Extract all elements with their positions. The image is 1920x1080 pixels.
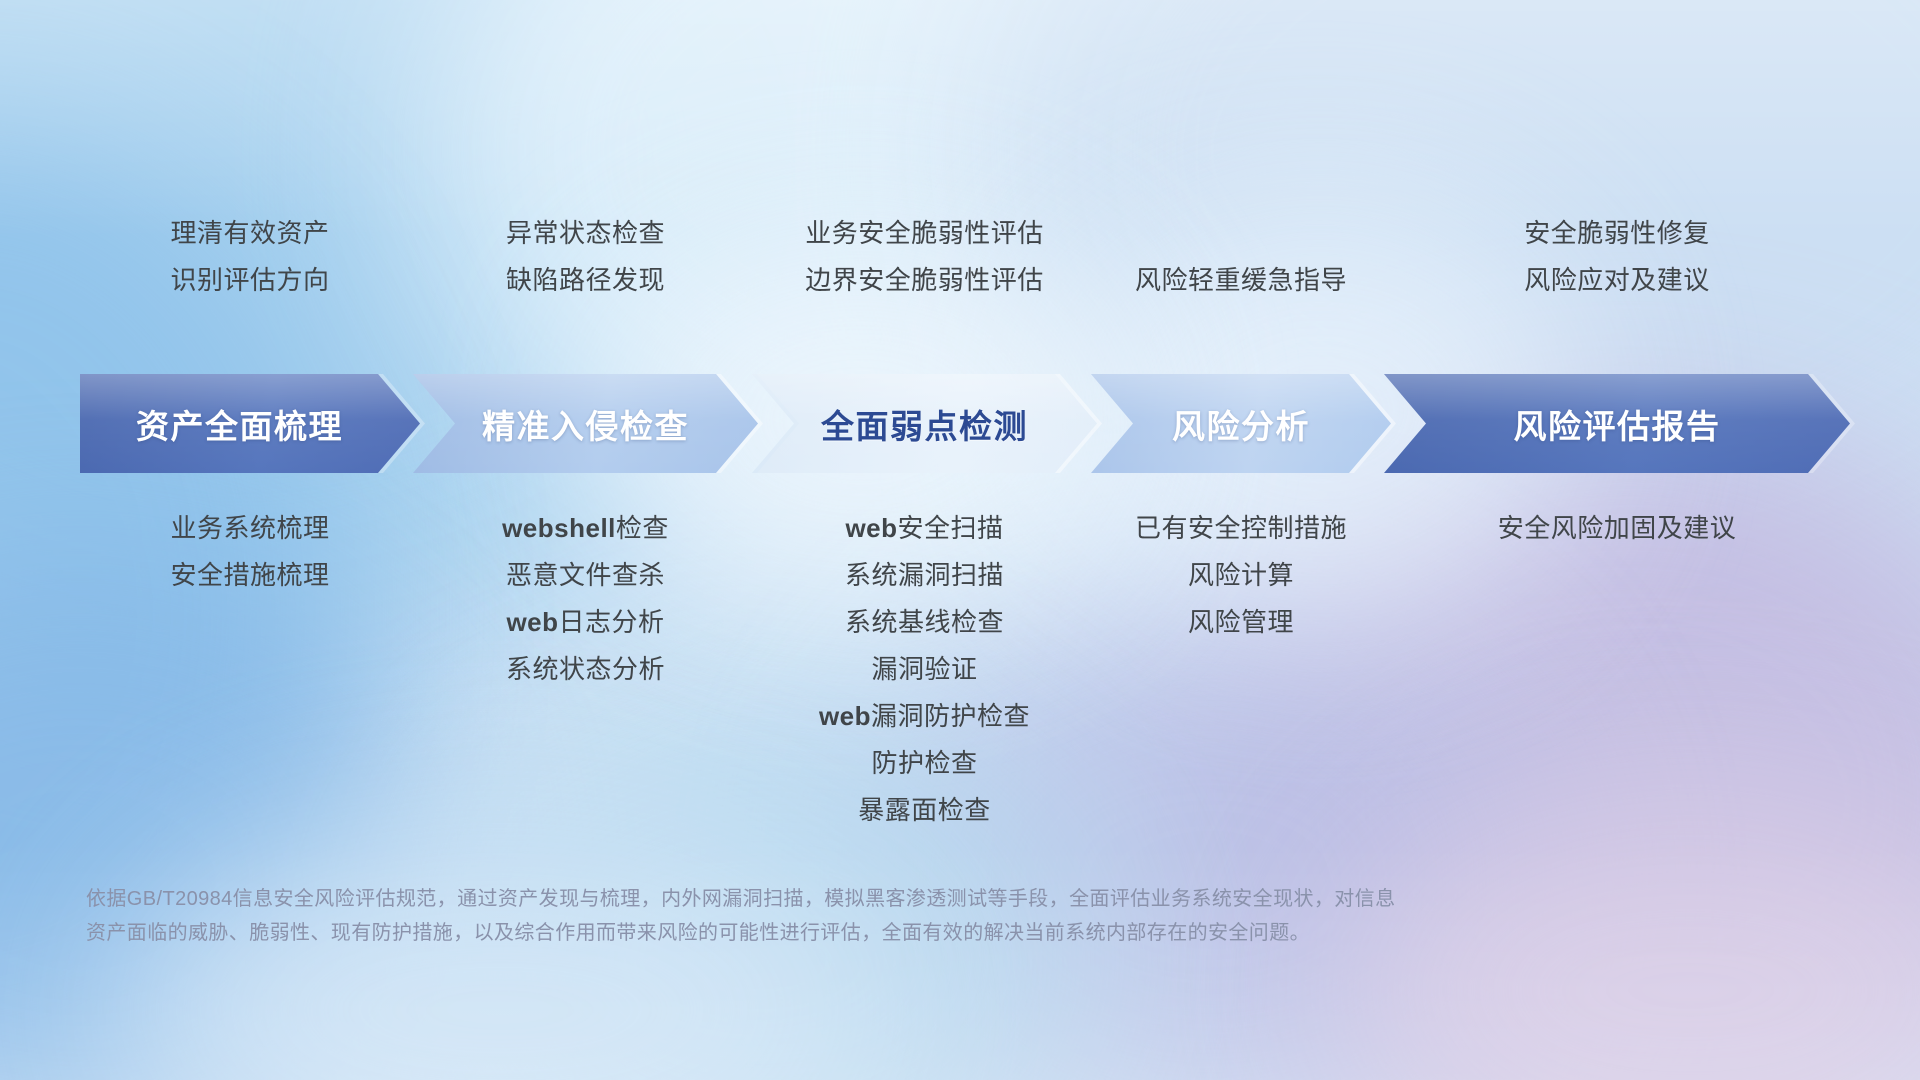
stage-chevron-row: 资产全面梳理精准入侵检查全面弱点检测风险分析风险评估报告	[80, 374, 1850, 473]
bottom-label-item: 风险计算	[941, 552, 1541, 599]
bottom-label-item: web漏洞防护检查	[625, 693, 1225, 740]
bottom-label-item: 暴露面检查	[625, 787, 1225, 834]
stage-title-asset-inventory: 资产全面梳理	[136, 400, 343, 448]
stage-chevron-risk-report[interactable]: 风险评估报告	[1384, 374, 1850, 473]
process-diagram: 理清有效资产识别评估方向异常状态检查缺陷路径发现业务安全脆弱性评估边界安全脆弱性…	[0, 0, 1920, 1080]
stage-title-intrusion-check: 精准入侵检查	[482, 400, 689, 448]
bottom-label-keyword: web	[819, 701, 871, 731]
stage-chevron-weakness-detection[interactable]: 全面弱点检测	[752, 374, 1097, 473]
bottom-label-item: 漏洞验证	[625, 646, 1225, 693]
top-label-item: 风险应对及建议	[1317, 257, 1917, 304]
stage-title-weakness-detection: 全面弱点检测	[821, 400, 1028, 448]
top-labels-risk-report: 安全脆弱性修复风险应对及建议	[1317, 210, 1917, 304]
bottom-label-keyword: web	[845, 513, 897, 543]
stage-title-risk-analysis: 风险分析	[1172, 400, 1310, 448]
footer-description: 依据GB/T20984信息安全风险评估规范，通过资产发现与梳理，内外网漏洞扫描，…	[86, 882, 1376, 950]
bottom-label-text: 漏洞防护检查	[871, 701, 1030, 731]
bottom-labels-risk-report: 安全风险加固及建议	[1317, 505, 1917, 552]
bottom-label-item: 安全风险加固及建议	[1317, 505, 1917, 552]
top-label-item: 业务安全脆弱性评估	[625, 210, 1225, 257]
stage-title-risk-report: 风险评估报告	[1514, 400, 1721, 448]
stage-chevron-intrusion-check[interactable]: 精准入侵检查	[413, 374, 758, 473]
top-label-item: 安全脆弱性修复	[1317, 210, 1917, 257]
bottom-label-item: 防护检查	[625, 740, 1225, 787]
footer-line-2: 资产面临的威胁、脆弱性、现有防护措施，以及综合作用而带来风险的可能性进行评估，全…	[86, 916, 1376, 950]
bottom-label-item: 风险管理	[941, 599, 1541, 646]
bottom-label-keyword: web	[506, 607, 558, 637]
stage-chevron-risk-analysis[interactable]: 风险分析	[1091, 374, 1391, 473]
footer-line-1: 依据GB/T20984信息安全风险评估规范，通过资产发现与梳理，内外网漏洞扫描，…	[86, 882, 1376, 916]
bottom-label-keyword: webshell	[502, 513, 616, 543]
stage-chevron-asset-inventory[interactable]: 资产全面梳理	[80, 374, 420, 473]
